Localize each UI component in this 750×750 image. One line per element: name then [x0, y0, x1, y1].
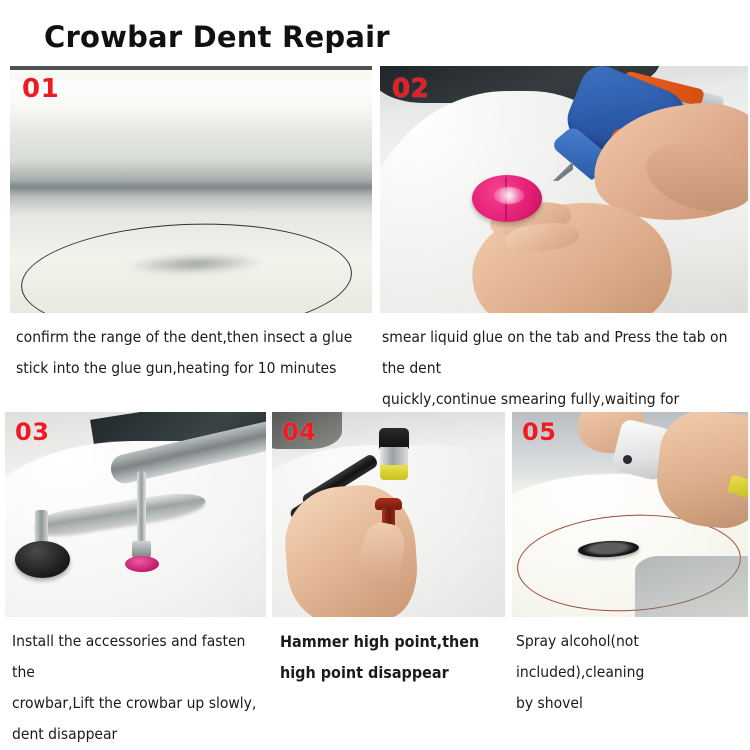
- step-image-01: 01: [10, 66, 372, 313]
- highlight-sheen: [10, 81, 372, 130]
- pink-tab-attached: [125, 556, 159, 572]
- step-caption-05: Spray alcohol(not included),cleaning by …: [516, 626, 748, 719]
- hammer-head-yellow-face: [380, 465, 408, 479]
- step-badge-01: 01: [22, 74, 59, 104]
- black-rubber-foot: [15, 541, 70, 578]
- step-image-04: 04: [272, 412, 505, 617]
- reflection-shadow: [635, 556, 748, 618]
- step-badge-04: 04: [282, 418, 316, 446]
- step-badge-05: 05: [522, 418, 556, 446]
- step-image-02: 02: [380, 66, 748, 313]
- hammer-head-black-cap: [379, 428, 409, 449]
- step-image-03: 03: [5, 412, 266, 617]
- glue-blob: [494, 187, 523, 204]
- panel-top-edge: [10, 66, 372, 70]
- page-title: Crowbar Dent Repair: [44, 20, 390, 54]
- step-caption-03: Install the accessories and fasten the c…: [12, 626, 267, 750]
- step-caption-04: Hammer high point,then high point disapp…: [280, 626, 505, 688]
- step-caption-01: confirm the range of the dent,then insec…: [16, 322, 376, 384]
- step-image-05: 05: [512, 412, 748, 617]
- step-badge-03: 03: [15, 418, 49, 446]
- instruction-infographic: Crowbar Dent Repair 01 confirm the range…: [0, 0, 750, 750]
- step-badge-02: 02: [392, 74, 429, 104]
- left-bolt: [35, 510, 48, 545]
- hammer-head-chrome: [380, 447, 408, 468]
